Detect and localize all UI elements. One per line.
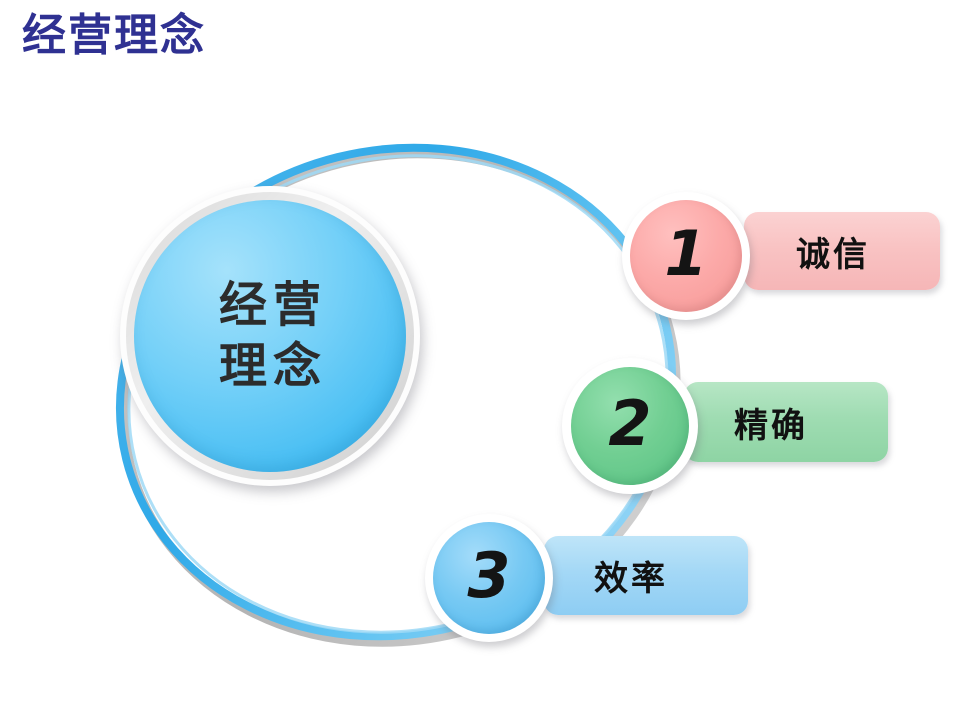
item-label-text-3: 效率 (594, 551, 668, 600)
item-label-text-1: 诚信 (796, 227, 870, 276)
item-node-fill-3: 3 (433, 522, 545, 634)
item-node-1[interactable]: 1 (622, 192, 750, 320)
item-node-fill-2: 2 (571, 367, 689, 485)
item-label-text-2: 精确 (734, 398, 808, 447)
item-label-bar-3[interactable]: 效率 (544, 536, 748, 615)
center-node[interactable]: 经营 理念 (120, 186, 420, 486)
item-node-3[interactable]: 3 (425, 514, 553, 642)
item-number-3: 3 (467, 545, 510, 607)
item-node-2[interactable]: 2 (562, 358, 698, 494)
item-node-fill-1: 1 (630, 200, 742, 312)
item-label-bar-2[interactable]: 精确 (684, 382, 888, 462)
center-node-ring: 经营 理念 (126, 192, 414, 480)
center-node-line-1: 经营 (213, 275, 327, 336)
slide-canvas: 经营理念 诚信 精确 效率 (0, 0, 975, 705)
item-number-2: 2 (608, 393, 651, 455)
item-number-1: 1 (664, 223, 707, 285)
item-label-bar-1[interactable]: 诚信 (744, 212, 940, 290)
center-node-line-2: 理念 (213, 336, 327, 397)
center-node-fill: 经营 理念 (134, 200, 406, 472)
